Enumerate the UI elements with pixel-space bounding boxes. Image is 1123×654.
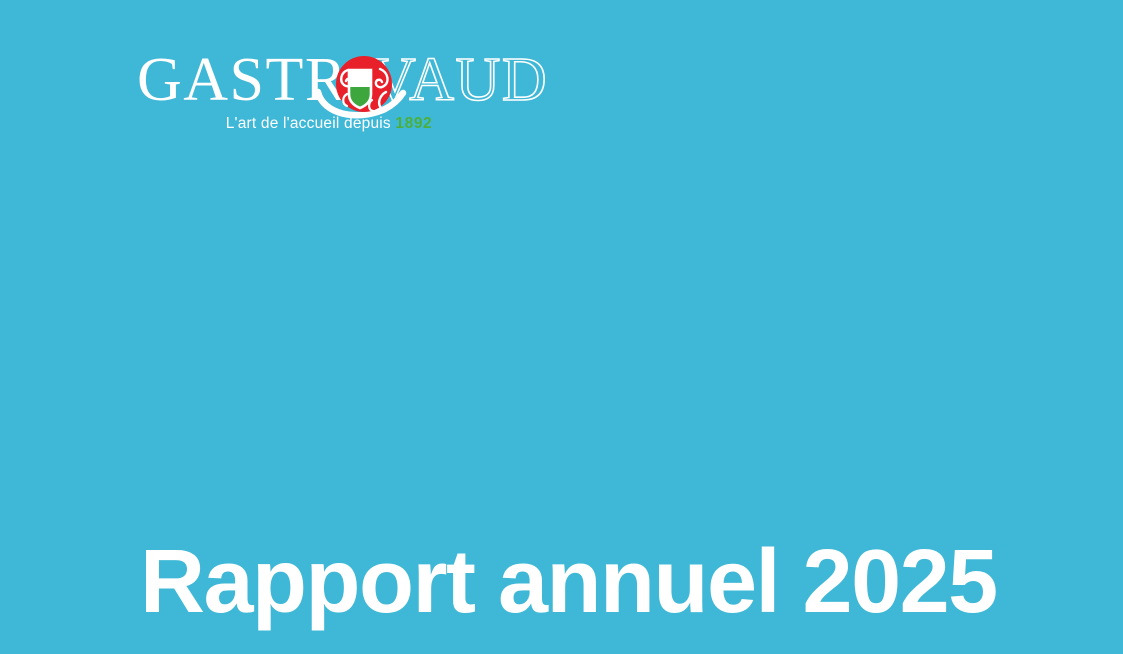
logo-gastr-text: GASTR bbox=[137, 46, 348, 114]
logo-tagline: L'art de l'accueil depuis 1892 bbox=[137, 114, 521, 134]
logo-wordmark-svg: GASTR VAUD bbox=[137, 48, 521, 114]
page-title: Rapport annuel 2025 bbox=[140, 534, 1040, 630]
vaud-shield-emblem-icon bbox=[336, 56, 392, 112]
vaud-shield-icon bbox=[349, 70, 371, 108]
logo-tagline-year: 1892 bbox=[395, 115, 432, 132]
gastrovaud-logo: GASTR VAUD bbox=[137, 48, 521, 140]
cover-slide: GASTR VAUD bbox=[0, 0, 1123, 654]
logo-wordmark: GASTR VAUD bbox=[137, 48, 521, 114]
logo-tagline-text: L'art de l'accueil depuis bbox=[226, 115, 391, 132]
